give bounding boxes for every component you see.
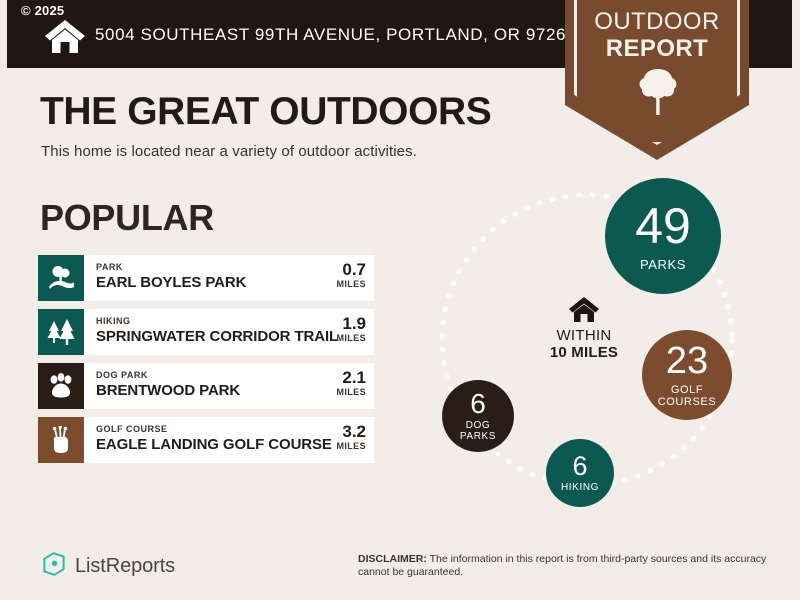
stat-value: 23 xyxy=(666,342,708,380)
golf-bag-icon xyxy=(38,417,84,463)
copyright-label: © 2025 xyxy=(21,4,64,17)
list-item-name: EARL BOYLES PARK xyxy=(96,274,246,291)
stat-label-line2: COURSES xyxy=(658,396,717,408)
outdoor-report-badge: OUTDOOR REPORT xyxy=(565,0,749,160)
list-item[interactable]: DOG PARK BRENTWOOD PARK 2.1 MILES xyxy=(38,363,374,409)
stat-circle-golf-courses[interactable]: 23 GOLF COURSES xyxy=(642,330,732,420)
diagram-center-note: WITHIN 10 MILES xyxy=(524,296,644,361)
stat-label-line1: DOG xyxy=(466,420,491,431)
distance-unit: MILES xyxy=(322,387,366,397)
within-10-miles-diagram: 49 PARKS 23 GOLF COURSES 6 DOG PARKS 6 H… xyxy=(420,172,790,512)
stat-label: PARKS xyxy=(640,258,686,272)
center-note-line1: WITHIN xyxy=(524,328,644,344)
list-item-distance: 0.7 MILES xyxy=(322,260,366,289)
list-item-distance: 1.9 MILES xyxy=(322,314,366,343)
disclaimer-label: DISCLAIMER: xyxy=(358,553,427,565)
list-item-category: HIKING xyxy=(96,316,131,326)
distance-value: 2.1 xyxy=(322,368,366,387)
stat-label: DOG PARKS xyxy=(460,421,496,442)
house-icon xyxy=(524,296,644,323)
paw-print-icon xyxy=(38,363,84,409)
stat-value: 6 xyxy=(572,453,587,480)
list-item[interactable]: GOLF COURSE EAGLE LANDING GOLF COURSE 3.… xyxy=(38,417,374,463)
popular-heading: POPULAR xyxy=(40,200,214,236)
distance-value: 3.2 xyxy=(322,422,366,441)
house-icon xyxy=(44,18,86,54)
stat-label-line1: GOLF xyxy=(671,384,703,396)
center-note-line2: 10 MILES xyxy=(524,344,644,361)
page-title: THE GREAT OUTDOORS xyxy=(40,92,491,131)
list-item-category: PARK xyxy=(96,262,123,272)
list-item-distance: 3.2 MILES xyxy=(322,422,366,451)
list-item-name: EAGLE LANDING GOLF COURSE xyxy=(96,436,332,453)
stat-value: 6 xyxy=(470,390,486,418)
park-tree-icon xyxy=(38,255,84,301)
property-address: 5004 SOUTHEAST 99TH AVENUE, PORTLAND, OR… xyxy=(95,25,576,45)
badge-title: OUTDOOR REPORT xyxy=(565,8,749,62)
list-item[interactable]: PARK EARL BOYLES PARK 0.7 MILES xyxy=(38,255,374,301)
list-item-distance: 2.1 MILES xyxy=(322,368,366,397)
tree-icon xyxy=(637,68,679,116)
listreports-logo-icon xyxy=(41,551,67,582)
listreports-wordmark: ListReports xyxy=(75,555,175,578)
distance-value: 1.9 xyxy=(322,314,366,333)
stat-label-line2: PARKS xyxy=(460,431,496,442)
list-item-name: SPRINGWATER CORRIDOR TRAIL xyxy=(96,328,338,345)
popular-list: PARK EARL BOYLES PARK 0.7 MILES HIKING xyxy=(38,255,374,471)
list-item[interactable]: HIKING SPRINGWATER CORRIDOR TRAIL 1.9 MI… xyxy=(38,309,374,355)
distance-unit: MILES xyxy=(322,333,366,343)
stat-circle-dog-parks[interactable]: 6 DOG PARKS xyxy=(442,380,514,452)
pine-trees-icon xyxy=(38,309,84,355)
badge-title-line1: OUTDOOR xyxy=(594,8,719,35)
stat-label: HIKING xyxy=(561,483,599,494)
list-item-category: GOLF COURSE xyxy=(96,424,168,434)
disclaimer: DISCLAIMER: The information in this repo… xyxy=(358,553,778,579)
outdoor-report-page: © 2025 5004 SOUTHEAST 99TH AVENUE, PORTL… xyxy=(0,0,800,600)
stat-label: GOLF COURSES xyxy=(658,385,717,408)
stat-value: 49 xyxy=(635,201,691,251)
list-item-name: BRENTWOOD PARK xyxy=(96,382,240,399)
distance-value: 0.7 xyxy=(322,260,366,279)
badge-title-line2: REPORT xyxy=(606,35,708,62)
page-subtitle: This home is located near a variety of o… xyxy=(41,143,417,160)
distance-unit: MILES xyxy=(322,441,366,451)
stat-circle-hiking[interactable]: 6 HIKING xyxy=(546,439,614,507)
stat-circle-parks[interactable]: 49 PARKS xyxy=(605,178,721,294)
distance-unit: MILES xyxy=(322,279,366,289)
listreports-logo[interactable]: ListReports xyxy=(41,551,175,582)
list-item-category: DOG PARK xyxy=(96,370,148,380)
